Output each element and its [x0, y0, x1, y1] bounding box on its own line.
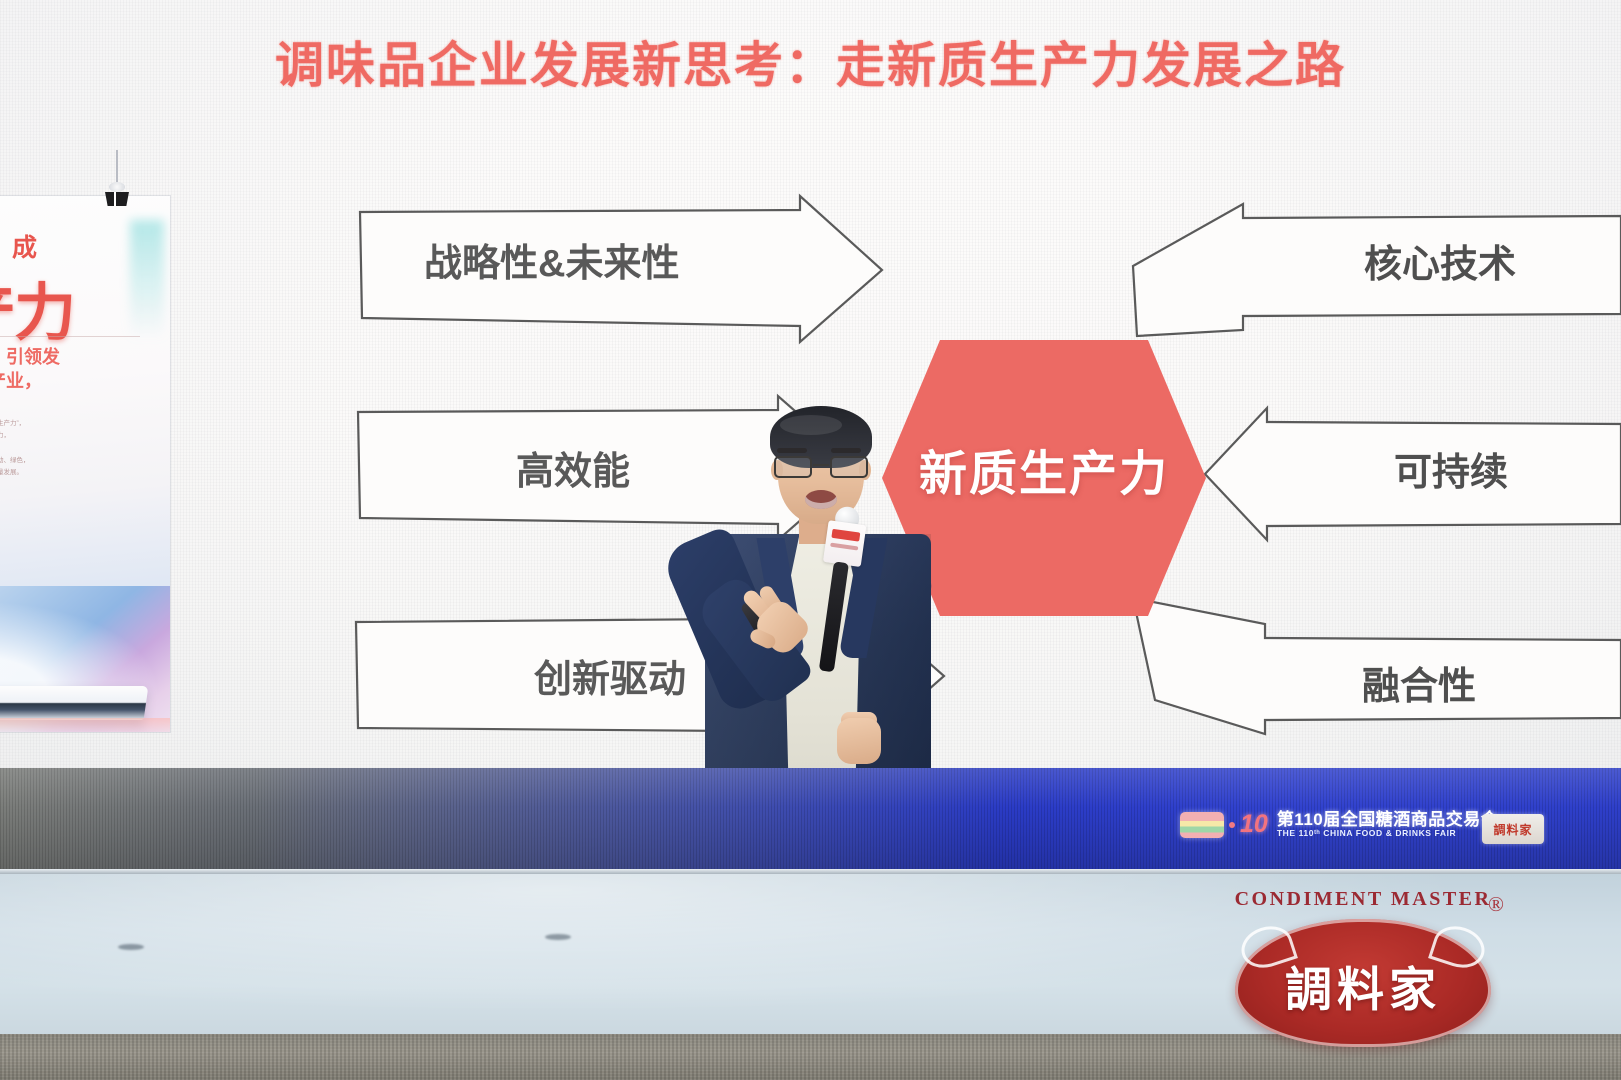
side-poster: 形 成 产力 资源，引领发 未来产业， 产力。 “质”，重塑了“生产力”， 创新… [0, 196, 170, 732]
floor-marker-1 [118, 944, 144, 950]
arrow-label-efficiency: 高效能 [516, 440, 630, 495]
arrow-label-core-tech: 核心技术 [1364, 233, 1516, 288]
arrow-label-innovation: 创新驱动 [534, 648, 686, 703]
slide-title: 调味品企业发展新思考：走新质生产力发展之路 [0, 26, 1621, 97]
fair-right-badge: 調料家 [1482, 814, 1544, 844]
registered-trademark-icon: ® [1488, 892, 1504, 917]
poster-divider [0, 336, 140, 337]
poster-fine-print: “质”，重塑了“生产力”， 创新是第一动力， 是新质生产力。 优质、创新驱动、绿… [0, 418, 148, 480]
eyebrow-left [777, 448, 807, 453]
brand-plaque: 調料家 [1235, 919, 1491, 1047]
poster-headline-top: 形 成 [0, 228, 49, 264]
poster-train-illustration [0, 586, 170, 732]
eyebrow-right [831, 448, 861, 453]
fair-logo-mark: 10 [1180, 812, 1268, 838]
brand-chinese-name: 調料家 [1235, 951, 1491, 1020]
conference-photo-scene: 调味品企业发展新思考：走新质生产力发展之路 形 成 产力 资源，引领发 未来产业… [0, 0, 1621, 1080]
floor-marker-2 [545, 934, 571, 940]
brand-logo: CONDIMENT MASTER ® 調料家 [1218, 888, 1508, 1058]
poster-headline-big: 产力 [0, 262, 164, 352]
arrow-label-strategic: 战略性&未来性 [424, 232, 679, 287]
fair-title-en: THE 110ᵗʰ CHINA FOOD & DRINKS FAIR [1277, 829, 1498, 838]
brand-english-name: CONDIMENT MASTER [1218, 888, 1508, 911]
right-hand [835, 708, 887, 770]
arrow-label-integration: 融合性 [1362, 655, 1476, 710]
glasses-icon [773, 456, 869, 478]
mic-flag [823, 520, 866, 567]
arrow-label-sustainable: 可持续 [1394, 441, 1508, 496]
poster-body-text: 资源，引领发 未来产业， 产力。 [0, 346, 148, 417]
fair-banner: 10 第110届全国糖酒商品交易会 THE 110ᵗʰ CHINA FOOD &… [1180, 811, 1498, 839]
fair-title-cn: 第110届全国糖酒商品交易会 [1277, 811, 1498, 829]
